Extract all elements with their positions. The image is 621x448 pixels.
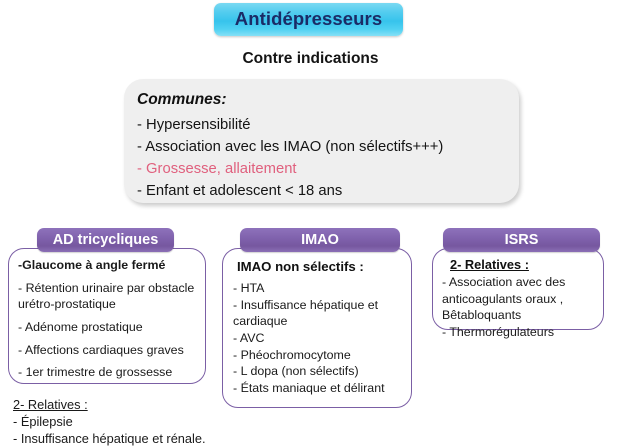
page-title-banner: Antidépresseurs bbox=[214, 3, 403, 36]
page-title: Antidépresseurs bbox=[235, 10, 383, 29]
common-heading: Communes: bbox=[137, 90, 519, 111]
isrs-sub-heading: 2- Relatives : bbox=[450, 257, 529, 272]
common-contraindications-box: Communes: - Hypersensibilité - Associati… bbox=[124, 79, 519, 203]
imao-item: - AVC bbox=[233, 331, 403, 347]
class-banner-label: IMAO bbox=[301, 233, 339, 248]
isrs-item: - Thermorégulateurs bbox=[442, 324, 595, 341]
tricyclic-relatives-heading: 2- Relatives : bbox=[13, 397, 88, 412]
imao-item: - Phéochromocytome bbox=[233, 348, 403, 364]
imao-item: - HTA bbox=[233, 281, 403, 297]
tricyclic-relatives-block: 2- Relatives : - Épilepsie - Insuffisanc… bbox=[13, 396, 253, 448]
tricyclic-relatives-item: - Insuffisance hépatique et rénale. bbox=[13, 431, 253, 448]
tricyclic-item: - Rétention urinaire par obstacle urétro… bbox=[18, 281, 197, 313]
tricyclic-item: - 1er trimestre de grossesse bbox=[18, 365, 197, 381]
common-item: - Hypersensibilité bbox=[137, 114, 519, 136]
page-subtitle: Contre indications bbox=[0, 50, 621, 68]
common-item-highlighted: - Grossesse, allaitement bbox=[137, 158, 519, 180]
imao-item: - Insuffisance hépatique et cardiaque bbox=[233, 298, 403, 330]
tricyclic-contraindications-box: -Glaucome à angle fermé - Rétention urin… bbox=[8, 248, 206, 384]
class-banner-isrs: ISRS bbox=[443, 228, 600, 252]
tricyclic-item: - Affections cardiaques graves bbox=[18, 343, 197, 359]
class-banner-label: ISRS bbox=[505, 233, 539, 248]
common-item: - Association avec les IMAO (non sélecti… bbox=[137, 136, 519, 158]
imao-sub-heading: IMAO non sélectifs : bbox=[237, 259, 403, 274]
imao-item: - L dopa (non sélectifs) bbox=[233, 364, 403, 380]
tricyclic-relatives-item: - Épilepsie bbox=[13, 414, 253, 431]
tricyclic-item: -Glaucome à angle fermé bbox=[18, 258, 197, 274]
common-item: - Enfant et adolescent < 18 ans bbox=[137, 180, 519, 202]
imao-item: - États maniaque et délirant bbox=[233, 381, 403, 397]
class-banner-imao: IMAO bbox=[240, 228, 400, 252]
isrs-item: - Association avec des anticoagulants or… bbox=[442, 274, 595, 324]
tricyclic-item: - Adénome prostatique bbox=[18, 320, 197, 336]
isrs-contraindications-box: 2- Relatives : - Association avec des an… bbox=[432, 248, 604, 330]
class-banner-label: AD tricycliques bbox=[53, 233, 159, 248]
imao-contraindications-box: IMAO non sélectifs : - HTA - Insuffisanc… bbox=[222, 248, 412, 408]
class-banner-tricyclic: AD tricycliques bbox=[37, 228, 174, 252]
